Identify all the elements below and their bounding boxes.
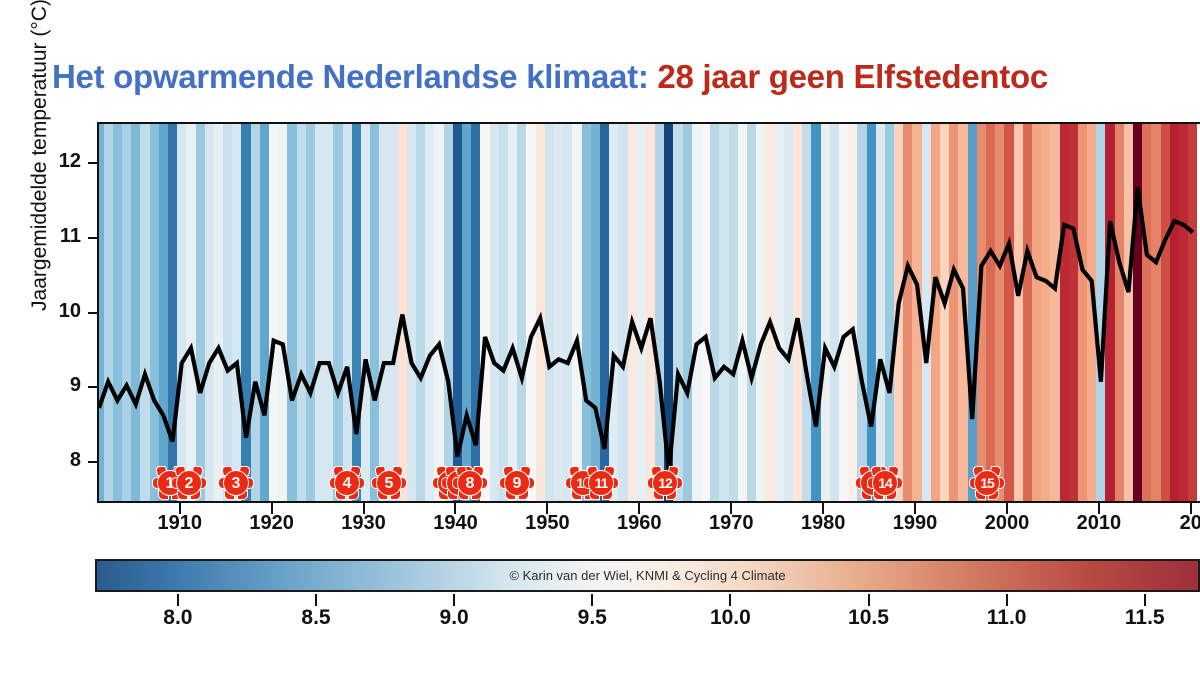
credit-text: © Karin van der Wiel, KNMI & Cycling 4 C… [97,568,1198,583]
x-tick-label: 20 [1146,512,1200,535]
colorbar-tick-mark [729,594,731,606]
colorbar-tick-mark [315,594,317,606]
medal-number: 15 [974,470,1000,496]
plot-area [97,122,1200,503]
elfstedentocht-medal-15[interactable]: 15 [970,466,1004,500]
y-tick-label: 11 [21,225,81,248]
x-tick-label: 1960 [594,512,684,535]
medal-number: 8 [457,470,483,496]
colorbar-tick-label: 10.5 [824,606,914,630]
elfstedentocht-medal-3[interactable]: 3 [219,466,253,500]
medal-number: 12 [652,470,678,496]
colorbar-tick-label: 11.0 [962,606,1052,630]
y-tick-label: 12 [21,150,81,173]
elfstedentocht-medal-5[interactable]: 5 [372,466,406,500]
page-title-main: Het opwarmende Nederlandse klimaat: [52,58,657,95]
elfstedentocht-medal-12[interactable]: 12 [648,466,682,500]
medal-number: 5 [376,470,402,496]
climate-chart-page: Het opwarmende Nederlandse klimaat: 28 j… [0,0,1200,675]
colorbar-tick-mark [1144,594,1146,606]
colorbar-tick-label: 10.0 [685,606,775,630]
y-tick-label: 8 [21,449,81,472]
x-tick-label: 1990 [870,512,960,535]
x-tick-label: 1950 [502,512,592,535]
elfstedentocht-medal-8[interactable]: 8 [453,466,487,500]
elfstedentocht-medal-11[interactable]: 11 [584,466,618,500]
colorbar-tick-mark [591,594,593,606]
y-tick-mark [88,461,97,463]
colorbar: © Karin van der Wiel, KNMI & Cycling 4 C… [95,559,1200,592]
colorbar-tick-label: 8.5 [271,606,361,630]
elfstedentocht-medal-14[interactable]: 14 [868,466,902,500]
x-tick-label: 2010 [1054,512,1144,535]
page-title-accent: 28 jaar geen Elfstedentoc [657,58,1047,95]
colorbar-tick-mark [1006,594,1008,606]
medal-number: 2 [176,470,202,496]
colorbar-tick-mark [453,594,455,606]
y-tick-mark [88,386,97,388]
y-tick-mark [88,237,97,239]
page-title: Het opwarmende Nederlandse klimaat: 28 j… [52,58,1200,104]
elfstedentocht-medal-4[interactable]: 4 [330,466,364,500]
y-tick-label: 10 [21,300,81,323]
x-tick-label: 1930 [319,512,409,535]
colorbar-tick-label: 11.5 [1100,606,1190,630]
x-tick-label: 1970 [686,512,776,535]
temperature-line [99,124,1200,503]
y-tick-mark [88,162,97,164]
colorbar-tick-label: 9.0 [409,606,499,630]
x-tick-label: 1940 [410,512,500,535]
x-tick-label: 1910 [135,512,225,535]
x-tick-label: 1920 [227,512,317,535]
medal-number: 14 [872,470,898,496]
colorbar-tick-mark [868,594,870,606]
medal-number: 3 [223,470,249,496]
colorbar-tick-label: 9.5 [547,606,637,630]
medal-number: 4 [334,470,360,496]
medal-number: 11 [588,470,614,496]
x-tick-label: 1980 [778,512,868,535]
colorbar-tick-mark [177,594,179,606]
elfstedentocht-medal-2[interactable]: 2 [172,466,206,500]
colorbar-tick-label: 8.0 [133,606,223,630]
y-tick-mark [88,312,97,314]
x-tick-label: 2000 [962,512,1052,535]
y-tick-label: 9 [21,374,81,397]
elfstedentocht-medal-9[interactable]: 9 [500,466,534,500]
medal-number: 9 [504,470,530,496]
